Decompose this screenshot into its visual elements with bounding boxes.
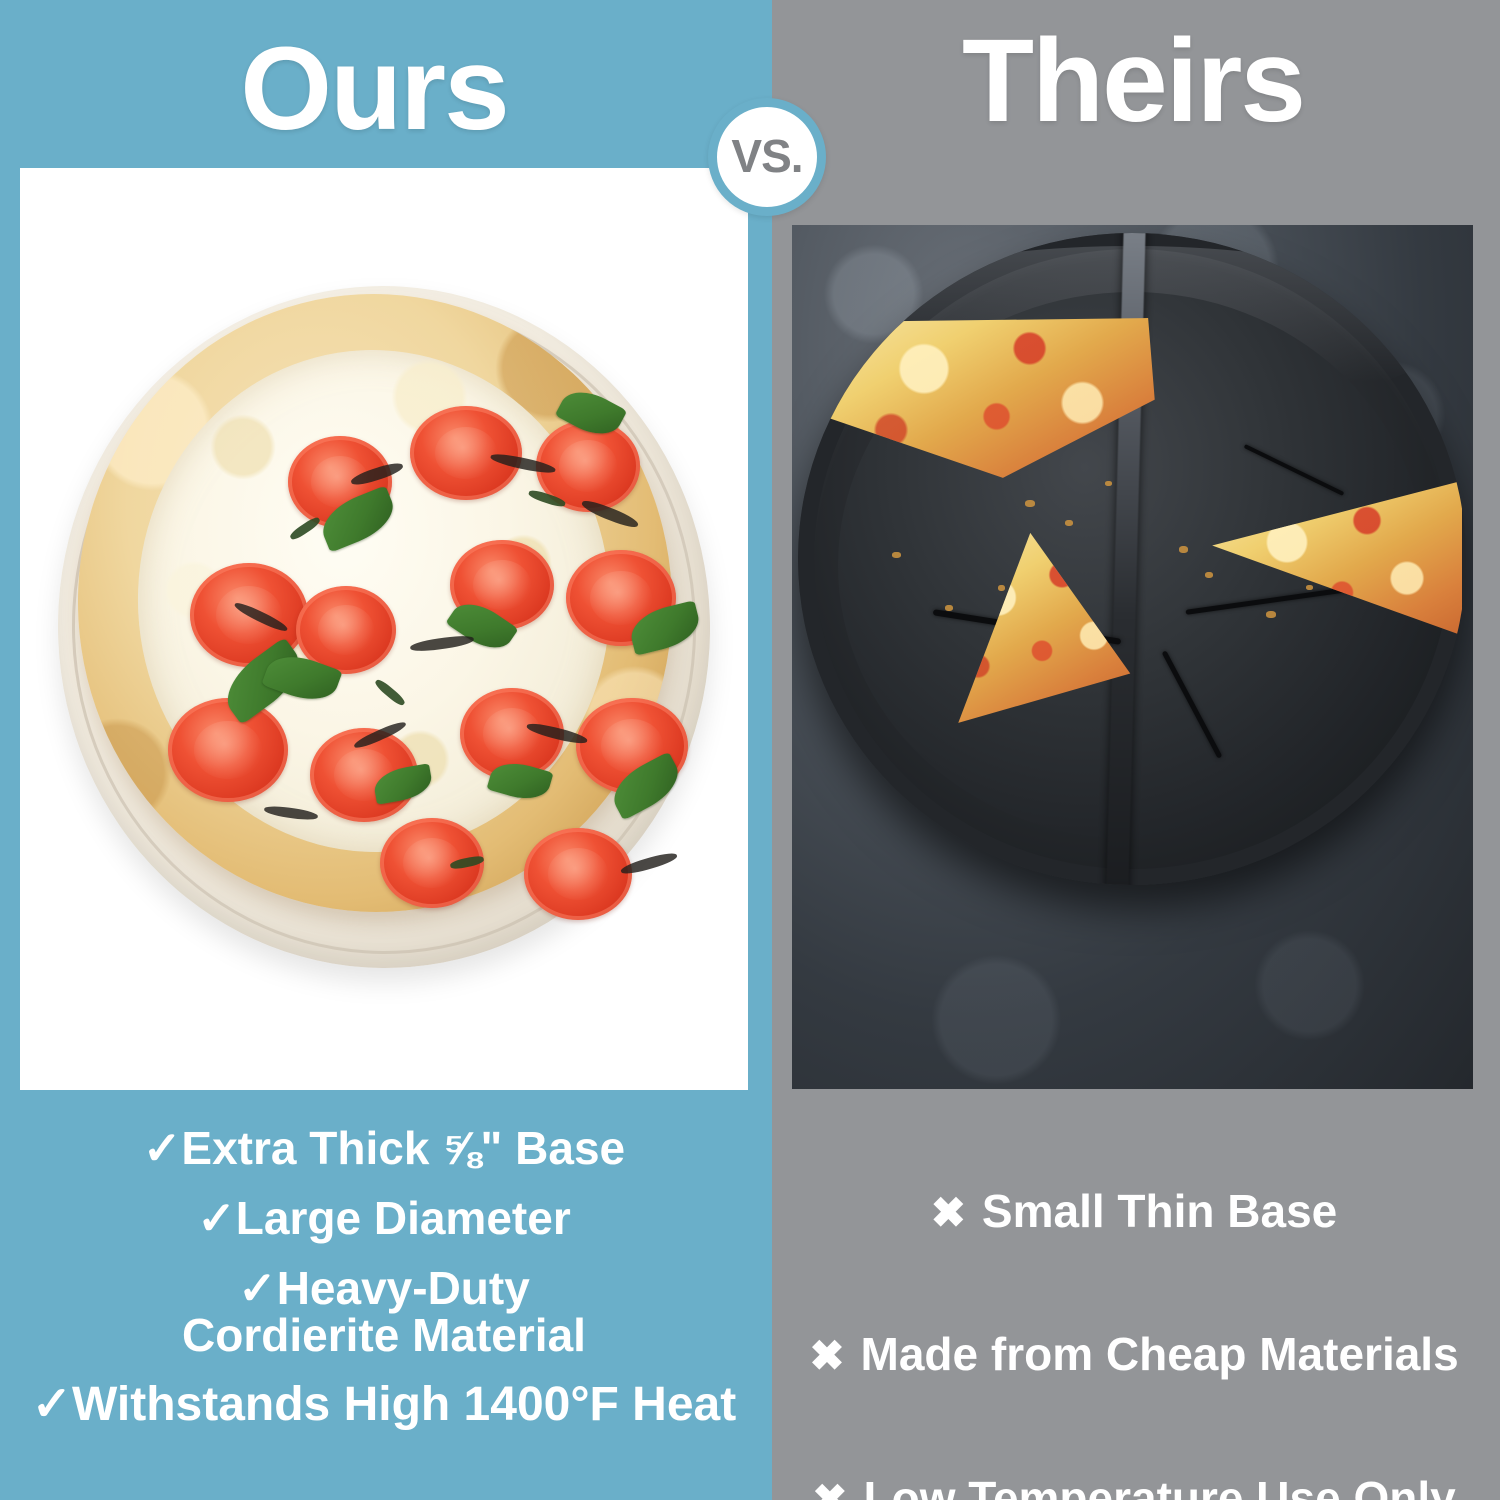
theirs-feature-list: ✖Small Thin Base ✖Made from Cheap Materi… <box>778 1140 1490 1500</box>
balsamic-drizzle <box>620 850 679 877</box>
theirs-product-photo <box>792 225 1473 1089</box>
tomato-slice <box>410 406 522 500</box>
vs-badge-label: VS. <box>731 133 802 179</box>
ours-feature-item: ✓Withstands High 1400°F Heat <box>0 1380 768 1430</box>
ours-feature-item: ✓Large Diameter <box>0 1195 768 1243</box>
crumb <box>1179 546 1188 553</box>
theirs-feature-label: Made from Cheap Materials <box>861 1328 1459 1380</box>
tomato-slice <box>524 828 632 920</box>
crumb <box>1025 500 1035 507</box>
theirs-feature-label: Small Thin Base <box>982 1185 1337 1237</box>
theirs-title: Theirs <box>792 22 1474 140</box>
crumb <box>892 552 901 558</box>
theirs-feature-item: ✖Low Temperature Use Only <box>778 1427 1490 1500</box>
crumb <box>1205 572 1213 578</box>
theirs-feature-item: ✖Made from Cheap Materials <box>778 1284 1490 1380</box>
crumb <box>1105 481 1112 486</box>
cross-icon: ✖ <box>809 1334 844 1378</box>
crumb <box>945 605 953 611</box>
vs-badge: VS. <box>708 98 826 216</box>
comparison-infographic: Ours Theirs VS. <box>0 0 1500 1500</box>
ours-title: Ours <box>0 30 748 148</box>
theirs-feature-label: Low Temperature Use Only <box>864 1472 1456 1500</box>
crumb <box>1266 611 1276 618</box>
tomato-slice <box>168 698 288 802</box>
theirs-feature-item: ✖Small Thin Base <box>778 1140 1490 1236</box>
ours-feature-item: ✓Heavy-Duty Cordierite Material <box>0 1265 768 1361</box>
cracked-pizza-pan <box>798 233 1466 885</box>
crumb <box>1306 585 1313 590</box>
crumb <box>1065 520 1073 526</box>
ours-feature-list: ✓Extra Thick ⅝" Base ✓Large Diameter ✓He… <box>0 1125 768 1430</box>
cross-icon: ✖ <box>812 1478 847 1500</box>
ours-product-photo <box>20 168 748 1090</box>
ours-feature-item: ✓Extra Thick ⅝" Base <box>0 1125 768 1173</box>
cross-icon: ✖ <box>931 1191 966 1235</box>
